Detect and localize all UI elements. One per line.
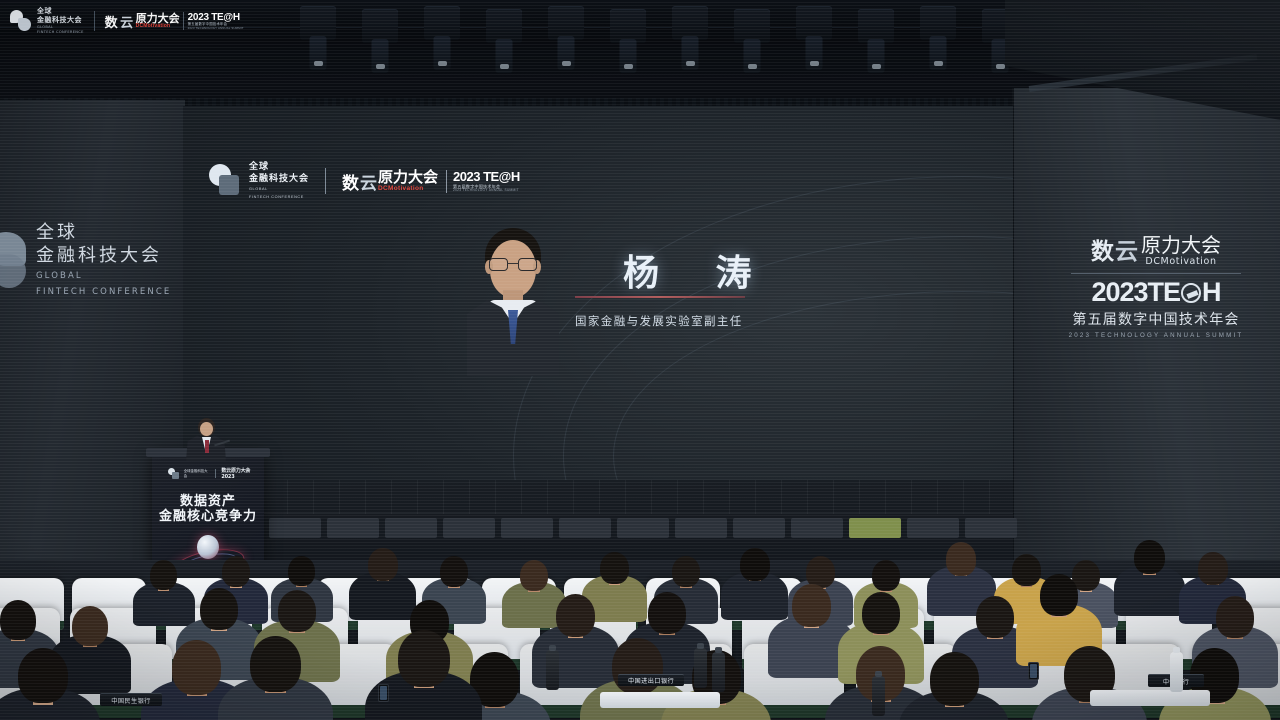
left-wall-logo: 全球 金融科技大会 GLOBAL FINTECH CONFERENCE (0, 222, 171, 299)
seat-nameplate: 中国进出口银行 (618, 674, 684, 686)
audience-member-head (792, 584, 831, 627)
screen-dc-shu: 数 (342, 169, 358, 194)
audience-member-head (200, 588, 238, 630)
stage-wall-panel (501, 518, 553, 538)
speaker-portrait-photo (465, 228, 561, 376)
audience-member-head (1012, 554, 1041, 586)
right-wall-tech-right: H (1202, 279, 1221, 306)
water-bottle (1170, 652, 1183, 692)
audience-member-head (278, 590, 316, 632)
audience-member-head (930, 652, 979, 706)
left-wall-en-line2: FINTECH CONFERENCE (36, 286, 171, 299)
stage-light (486, 9, 522, 43)
stage-light (300, 6, 336, 40)
screen-name-underline (575, 296, 745, 298)
fintech-logo-icon (0, 232, 28, 288)
watermark-en-line2: FINTECH CONFERENCE (37, 30, 84, 35)
podium-logo-dc: 数云原力大会 2023 (221, 467, 264, 480)
stage-light (424, 6, 460, 40)
podium-logo-brand: 全球金融科技大会 (184, 469, 211, 478)
main-led-screen: 全球 金融科技大会 GLOBAL FINTECH CONFERENCE 数 云 … (183, 106, 1013, 480)
audience-member-head (368, 548, 398, 581)
audience-member-head (398, 630, 450, 687)
screen-logo-en-line1: GLOBAL (249, 187, 309, 193)
watermark-divider (94, 11, 95, 31)
stage-wall-panel (849, 518, 901, 538)
right-wall-motivation: DCMotivation (1141, 257, 1221, 267)
audience-member-head (1040, 574, 1078, 616)
screen-year-line1: 2023 TE@H (453, 170, 520, 185)
fintech-logo-icon (10, 10, 32, 32)
conference-hall-scene: 全球 金融科技大会 GLOBAL FINTECH CONFERENCE 数 云 … (0, 0, 1280, 720)
conference-table (1090, 690, 1210, 706)
seat-nameplate-label: 中国民生银行 (111, 696, 151, 705)
water-bottle (546, 650, 559, 690)
audience-member-head (520, 560, 548, 591)
right-wall-tech-year: 2023 (1091, 279, 1147, 306)
water-bottle (712, 652, 725, 692)
stage-light (610, 9, 646, 43)
screen-logo-cn-line1: 全球 (249, 162, 309, 174)
screen-logo-cn-line2: 金融科技大会 (249, 174, 309, 186)
audience-member-head (872, 560, 900, 591)
watermark-cn-line1: 全球 (37, 7, 84, 16)
audience-member-head (1198, 552, 1228, 585)
screen-speaker-name: 杨 涛 (623, 244, 774, 296)
screen-dc-lockup: 数 云 原力大会 DCMotivation 2023 TE@H 第五届数字中国技… (342, 169, 520, 194)
right-wall-cn-summit: 第五届数字中国技术年会 (1056, 309, 1256, 329)
stage-wall-panel (617, 518, 669, 538)
right-wall-tech-left: TE (1148, 279, 1181, 306)
audience-member-head (0, 600, 36, 640)
audience-member-head (672, 556, 700, 587)
audience-member-head (946, 542, 976, 576)
audience-member-head (600, 552, 629, 584)
water-bottle (872, 676, 885, 716)
audience-member-head (740, 548, 770, 581)
screen-dc-yun: 云 (360, 169, 376, 194)
audience-member-head (1216, 596, 1254, 638)
screen-logo-divider (325, 168, 326, 194)
fintech-logo-icon (209, 164, 239, 198)
seat-nameplate-label: 中国进出口银行 (628, 676, 674, 685)
eyeglasses-icon (489, 258, 537, 271)
stage-light (920, 6, 956, 40)
right-wall-shu: 数 (1091, 232, 1113, 266)
presenter-at-podium (186, 418, 226, 460)
smartphone (1028, 662, 1039, 680)
stage-grid-texture (183, 480, 1013, 514)
right-wall-yun: 云 (1115, 232, 1137, 266)
audience-member-head (72, 606, 108, 646)
left-wall-en-line1: GLOBAL (36, 270, 171, 283)
audience-member-head (1134, 540, 1165, 574)
watermark-dc-lockup: 数 云 原力大会 DCMotivation 2023 TE@H 第五届数字中国技… (105, 12, 244, 31)
stage-wall-panel (733, 518, 785, 538)
screen-speaker-title: 国家金融与发展实验室副主任 (575, 313, 743, 329)
stage-wall-panel (907, 518, 959, 538)
screen-dc-motivation: DCMotivation (378, 186, 438, 193)
stage-wall-panel (559, 518, 611, 538)
stage-light (362, 9, 398, 43)
fintech-logo-icon (168, 468, 179, 479)
right-wall-tech-lockup: 2023 TE H (1056, 279, 1256, 306)
stage-wall-panel (269, 518, 321, 538)
audience-member-head (648, 592, 686, 634)
podium-logo-divider (215, 469, 216, 478)
watermark-year-line3: 2023 TECHNOLOGY ANNUAL SUMMIT (188, 27, 244, 30)
audience-member-head (172, 640, 221, 695)
audience-member-head (222, 556, 250, 587)
podium-title-line2: 金融核心竞争力 (152, 505, 264, 524)
audience-member-head (150, 560, 177, 590)
right-wall (1012, 88, 1280, 608)
screen-year-line3: 2023 TECHNOLOGY ANNUAL SUMMIT (453, 189, 520, 193)
screen-logo-lockup: 全球 金融科技大会 GLOBAL FINTECH CONFERENCE 数 云 … (209, 162, 520, 201)
left-wall-cn-line2: 金融科技大会 (36, 245, 171, 268)
smartphone (378, 684, 389, 702)
stage-light (672, 6, 708, 40)
audience-member-head (250, 636, 301, 692)
stage-wall-panel (443, 518, 495, 538)
screen-logo-en-line2: FINTECH CONFERENCE (249, 195, 309, 201)
at-symbol-icon (1181, 283, 1201, 303)
stage-wall-panel (965, 518, 1017, 538)
screen-dc-yuanli: 原力大会 (378, 170, 438, 185)
left-wall-cn-line1: 全球 (36, 222, 171, 245)
stage-light (548, 6, 584, 40)
stage-wall-panel (385, 518, 437, 538)
audience-member-head (976, 596, 1014, 638)
stage-light (858, 9, 894, 43)
stage-wall-panel (327, 518, 379, 538)
broadcast-watermark: 全球 金融科技大会 GLOBAL FINTECH CONFERENCE 数 云 … (0, 0, 280, 42)
podium-logo-lockup: 全球金融科技大会 数云原力大会 2023 (168, 467, 264, 480)
seat-nameplate: 中国民生银行 (100, 693, 162, 706)
stage-light (734, 9, 770, 43)
stage-wall-panel (675, 518, 727, 538)
right-wall-en-summit: 2023 TECHNOLOGY ANNUAL SUMMIT (1056, 332, 1256, 339)
right-wall-divider (1071, 273, 1241, 274)
audience-member-head (862, 592, 900, 634)
stage-wall-panel (791, 518, 843, 538)
conference-table (600, 692, 720, 708)
right-wall-yuanli: 原力大会 (1141, 235, 1221, 255)
right-wall-logo: 数 云 原力大会 DCMotivation 2023 TE H 第五届数字中国技… (1056, 232, 1256, 339)
audience-member-head (556, 594, 595, 637)
watermark-cn-line2: 金融科技大会 (37, 16, 84, 25)
audience-member-head (440, 556, 468, 587)
audience-member-head (288, 556, 315, 586)
stage-light (796, 6, 832, 40)
watermark-shu: 数 (105, 12, 118, 31)
water-bottle (694, 648, 707, 688)
audience-member-head (18, 648, 68, 703)
watermark-yun: 云 (120, 12, 133, 31)
watermark-fintech-lockup: 全球 金融科技大会 GLOBAL FINTECH CONFERENCE (10, 7, 84, 34)
watermark-motivation: DCMotivation (136, 24, 180, 29)
